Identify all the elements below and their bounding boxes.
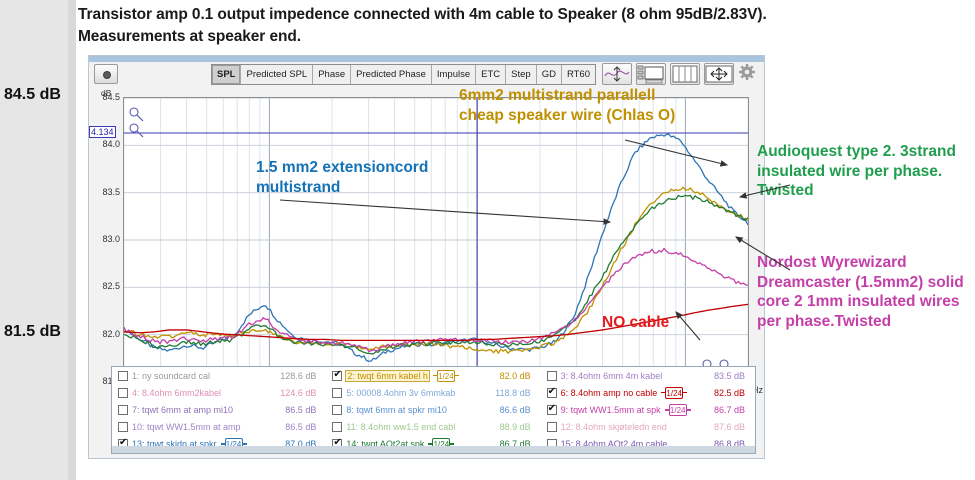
legend-label[interactable]: 12: 8.4ohm skjøteledn end bbox=[561, 422, 667, 432]
y-axis: dB 84.584.083.583.082.582.081.54.134 bbox=[89, 89, 123, 389]
legend-label[interactable]: 2: twqt 6mm kabel h bbox=[346, 371, 429, 381]
y-axis-tick: 83.0 bbox=[102, 234, 120, 244]
toolbar: SPLPredicted SPLPhasePredicted PhaseImpu… bbox=[89, 62, 764, 89]
tab-impulse[interactable]: Impulse bbox=[432, 65, 476, 84]
legend-row[interactable]: 2: twqt 6mm kabel h1/2482.0 dB bbox=[326, 367, 540, 384]
tab-rt60[interactable]: RT60 bbox=[562, 65, 595, 84]
legend-row[interactable]: 4: 8.4ohm 6mm2kabel124.6 dB bbox=[112, 384, 326, 401]
legend-checkbox[interactable] bbox=[332, 422, 342, 432]
y-axis-tick: 84.5 bbox=[102, 92, 120, 102]
legend-row[interactable]: 12: 8.4ohm skjøteledn end87.6 dB bbox=[541, 419, 755, 436]
tab-predicted-spl[interactable]: Predicted SPL bbox=[241, 65, 313, 84]
legend-offset-control[interactable]: 1/24 bbox=[665, 404, 691, 416]
y-axis-tick: 84.0 bbox=[102, 139, 120, 149]
legend-label[interactable]: 11: 8.4ohm ww1.5 end cabl bbox=[346, 422, 455, 432]
legend-label[interactable]: 1: ny soundcard cal bbox=[132, 371, 210, 381]
db-label-bottom: 81.5 dB bbox=[4, 323, 61, 341]
annotation-cheap-speaker-wire: 6mm2 multistrand parallell cheap speaker… bbox=[459, 86, 684, 125]
db-label-top: 84.5 dB bbox=[4, 86, 61, 104]
legend-checkbox[interactable] bbox=[332, 371, 342, 381]
spl-chart[interactable] bbox=[123, 97, 749, 383]
legend-offset-control[interactable]: 1/24 bbox=[661, 387, 687, 399]
legend-label[interactable]: 4: 8.4ohm 6mm2kabel bbox=[132, 388, 221, 398]
tab-gd[interactable]: GD bbox=[537, 65, 562, 84]
legend-label[interactable]: 7: tqwt 6mm at amp mi10 bbox=[132, 405, 233, 415]
legend-grid: 1: ny soundcard cal128.6 dB2: twqt 6mm k… bbox=[112, 367, 755, 453]
graph-limits-icon[interactable] bbox=[636, 63, 666, 85]
tab-spl[interactable]: SPL bbox=[212, 65, 241, 84]
chart-svg bbox=[124, 98, 748, 382]
tab-predicted-phase[interactable]: Predicted Phase bbox=[351, 65, 432, 84]
left-gutter bbox=[0, 0, 75, 480]
legend-value: 86.5 dB bbox=[285, 422, 326, 432]
legend-row[interactable]: 3: 8.4ohm 6mm 4m kabel83.5 dB bbox=[541, 367, 755, 384]
legend-label[interactable]: 10: tqwt WW1.5mm at amp bbox=[132, 422, 241, 432]
legend-label[interactable]: 5: 00008.4ohm 3v 6mmkab bbox=[346, 388, 455, 398]
measurement-legend: 1: ny soundcard cal128.6 dB2: twqt 6mm k… bbox=[111, 366, 756, 454]
annotation-extensioncord: 1.5 mm2 extensioncord multistrand bbox=[256, 158, 501, 197]
gutter-divider bbox=[68, 0, 76, 480]
move-axes-icon[interactable] bbox=[704, 63, 734, 85]
legend-label[interactable]: 8: tqwt 6mm at spkr mi10 bbox=[346, 405, 447, 415]
annotation-nordost: Nordost Wyrewizard Dreamcaster (1.5mm2) … bbox=[757, 253, 975, 332]
legend-value: 86.6 dB bbox=[500, 405, 541, 415]
y-axis-tick: 83.5 bbox=[102, 187, 120, 197]
grid-icon[interactable] bbox=[670, 63, 700, 85]
gear-icon[interactable] bbox=[738, 63, 758, 85]
microphone-icon[interactable] bbox=[94, 64, 118, 84]
y-axis-tick: 82.0 bbox=[102, 329, 120, 339]
waveform-controls-icon[interactable] bbox=[602, 63, 632, 85]
legend-row[interactable]: 6: 8.4ohm amp no cable1/2482.5 dB bbox=[541, 384, 755, 401]
legend-value: 128.6 dB bbox=[280, 371, 326, 381]
y-cursor-readout[interactable]: 4.134 bbox=[89, 126, 116, 138]
legend-checkbox[interactable] bbox=[547, 422, 557, 432]
legend-row[interactable]: 10: tqwt WW1.5mm at amp86.5 dB bbox=[112, 419, 326, 436]
legend-value: 118.8 dB bbox=[495, 388, 540, 398]
tab-step[interactable]: Step bbox=[506, 65, 537, 84]
legend-value: 83.5 dB bbox=[714, 371, 755, 381]
legend-row[interactable]: 7: tqwt 6mm at amp mi1086.5 dB bbox=[112, 401, 326, 418]
page-title: Transistor amp 0.1 output impedence conn… bbox=[78, 4, 768, 48]
legend-checkbox[interactable] bbox=[118, 388, 128, 398]
legend-row[interactable]: 5: 00008.4ohm 3v 6mmkab118.8 dB bbox=[326, 384, 540, 401]
legend-checkbox[interactable] bbox=[547, 388, 557, 398]
legend-checkbox[interactable] bbox=[547, 371, 557, 381]
legend-checkbox[interactable] bbox=[547, 405, 557, 415]
legend-checkbox[interactable] bbox=[118, 371, 128, 381]
legend-value: 87.6 dB bbox=[714, 422, 755, 432]
legend-label[interactable]: 3: 8.4ohm 6mm 4m kabel bbox=[561, 371, 663, 381]
legend-value: 88.9 dB bbox=[500, 422, 541, 432]
legend-offset-control[interactable]: 1/24 bbox=[433, 370, 459, 382]
measurement-tab-group[interactable]: SPLPredicted SPLPhasePredicted PhaseImpu… bbox=[211, 64, 596, 85]
y-axis-tick: 82.5 bbox=[102, 281, 120, 291]
legend-checkbox[interactable] bbox=[118, 405, 128, 415]
legend-checkbox[interactable] bbox=[118, 422, 128, 432]
legend-value: 86.5 dB bbox=[285, 405, 326, 415]
legend-value: 124.6 dB bbox=[280, 388, 326, 398]
toolbar-right-icons bbox=[602, 63, 758, 85]
legend-value: 82.0 dB bbox=[500, 371, 541, 381]
legend-checkbox[interactable] bbox=[332, 405, 342, 415]
legend-value: 86.7 dB bbox=[714, 405, 755, 415]
legend-label[interactable]: 9: tqwt WW1.5mm at spk bbox=[561, 405, 661, 415]
annotation-no-cable: NO cable bbox=[602, 313, 669, 333]
legend-label[interactable]: 6: 8.4ohm amp no cable bbox=[561, 388, 658, 398]
tab-phase[interactable]: Phase bbox=[313, 65, 351, 84]
legend-row[interactable]: 1: ny soundcard cal128.6 dB bbox=[112, 367, 326, 384]
legend-row[interactable]: 9: tqwt WW1.5mm at spk1/2486.7 dB bbox=[541, 401, 755, 418]
legend-row[interactable]: 11: 8.4ohm ww1.5 end cabl88.9 dB bbox=[326, 419, 540, 436]
legend-footer bbox=[112, 446, 755, 453]
legend-value: 82.5 dB bbox=[714, 388, 755, 398]
legend-checkbox[interactable] bbox=[332, 388, 342, 398]
annotation-audioquest: Audioquest type 2. 3strand insulated wir… bbox=[757, 142, 975, 201]
legend-row[interactable]: 8: tqwt 6mm at spkr mi1086.6 dB bbox=[326, 401, 540, 418]
tab-etc[interactable]: ETC bbox=[476, 65, 506, 84]
